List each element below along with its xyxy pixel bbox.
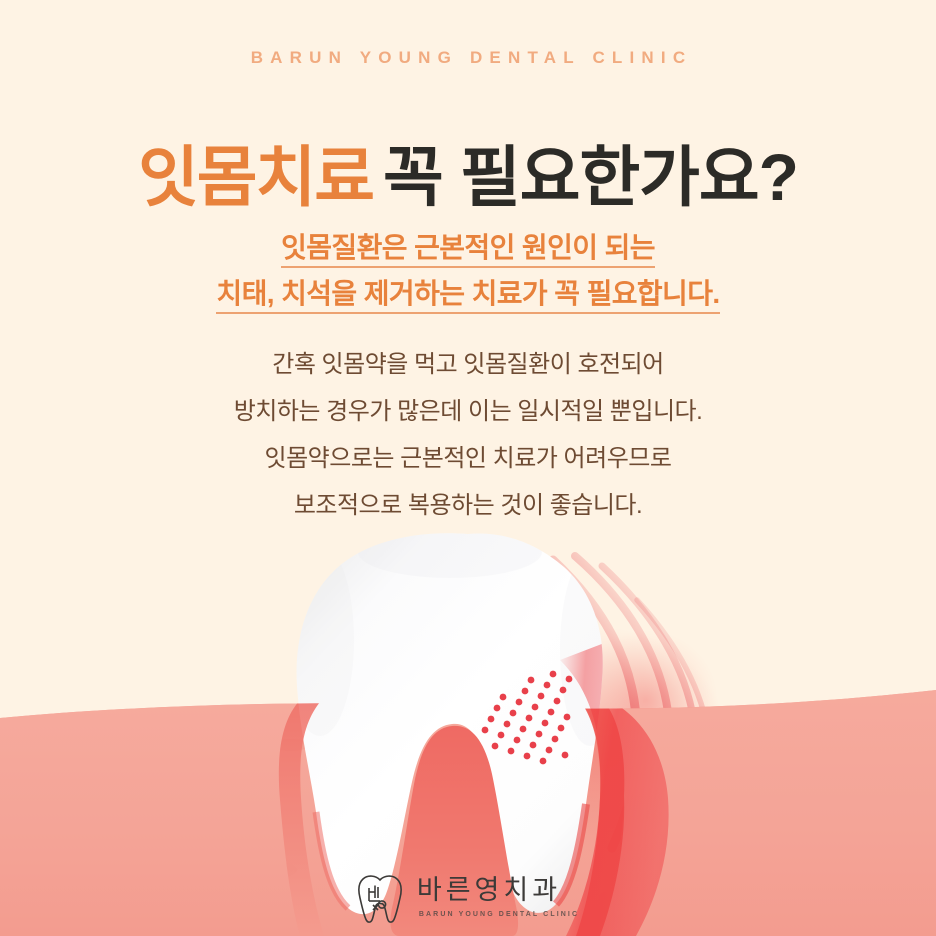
tooth-logo-icon <box>357 874 403 924</box>
poster-canvas: BARUN YOUNG DENTAL CLINIC 잇몸치료꼭 필요한가요? 잇… <box>0 0 936 936</box>
clinic-eyebrow-text: BARUN YOUNG DENTAL CLINIC <box>0 48 936 68</box>
subheadline-line-1: 잇몸질환은 근본적인 원인이 되는 <box>0 225 936 271</box>
logo-english-name: BARUN YOUNG DENTAL CLINIC <box>417 911 579 918</box>
body-copy: 간혹 잇몸약을 먹고 잇몸질환이 호전되어 방치하는 경우가 많은데 이는 일시… <box>0 341 936 529</box>
headline-highlight: 잇몸치료 <box>138 140 373 214</box>
subheadline: 잇몸질환은 근본적인 원인이 되는 치태, 치석을 제거하는 치료가 꼭 필요합… <box>0 225 936 317</box>
logo-korean-name: 바른영치과 <box>417 877 561 904</box>
headline-rest: 꼭 필요한가요? <box>383 140 798 214</box>
subheadline-line-2: 치태, 치석을 제거하는 치료가 꼭 필요합니다. <box>0 271 936 317</box>
page-title: 잇몸치료꼭 필요한가요? <box>0 144 936 211</box>
body-line-3: 잇몸약으로는 근본적인 치료가 어려우므로 <box>0 435 936 482</box>
clinic-logo: 바른영치과 BARUN YOUNG DENTAL CLINIC <box>0 874 936 924</box>
body-line-1: 간혹 잇몸약을 먹고 잇몸질환이 호전되어 <box>0 341 936 388</box>
body-line-2: 방치하는 경우가 많은데 이는 일시적일 뿐입니다. <box>0 388 936 435</box>
logo-text-block: 바른영치과 BARUN YOUNG DENTAL CLINIC <box>417 877 579 918</box>
body-line-4: 보조적으로 복용하는 것이 좋습니다. <box>0 482 936 529</box>
